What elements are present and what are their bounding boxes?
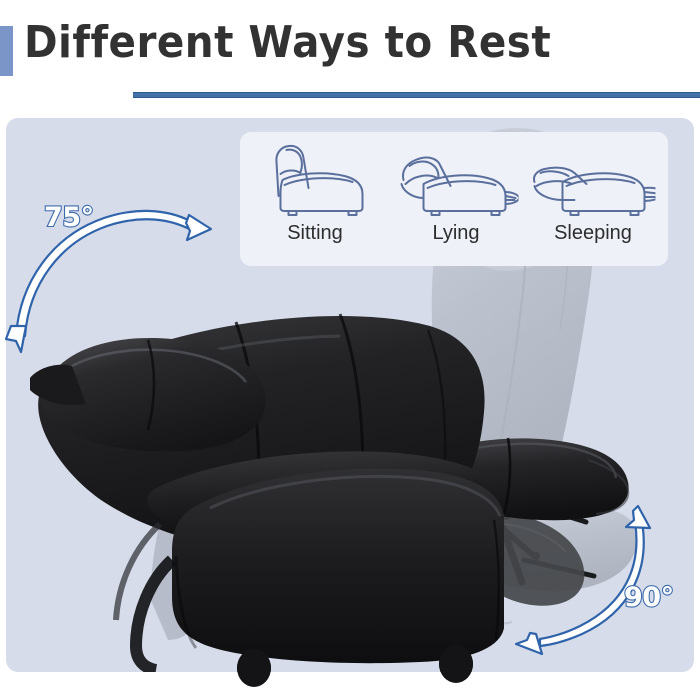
page-title: Different Ways to Rest (24, 17, 551, 68)
rest-modes-card: Sitting Lying (240, 132, 668, 266)
backrest-angle-annotation: 75° (0, 190, 225, 355)
mode-label-lying: Lying (385, 222, 527, 245)
mode-item-sitting[interactable]: Sitting (244, 132, 386, 266)
mode-item-sleeping[interactable]: Sleeping (522, 132, 664, 266)
footrest-angle-arrow-icon (498, 470, 698, 660)
recliner-upright-icon (253, 140, 378, 218)
footrest-angle-value: 90° (624, 582, 674, 613)
title-accent-bar (0, 26, 13, 76)
page-header: Different Ways to Rest (0, 0, 700, 118)
backrest-angle-arrow-icon (0, 190, 225, 355)
recliner-flat-icon (531, 140, 656, 218)
mode-label-sleeping: Sleeping (522, 222, 664, 245)
footrest-angle-annotation: 90° (498, 470, 698, 660)
mode-label-sitting: Sitting (244, 222, 386, 245)
bottom-white-strip (0, 672, 700, 700)
recliner-reclined-icon (394, 140, 519, 218)
mode-item-lying[interactable]: Lying (385, 132, 527, 266)
title-divider-rule (133, 92, 700, 98)
backrest-angle-value: 75° (44, 202, 94, 233)
